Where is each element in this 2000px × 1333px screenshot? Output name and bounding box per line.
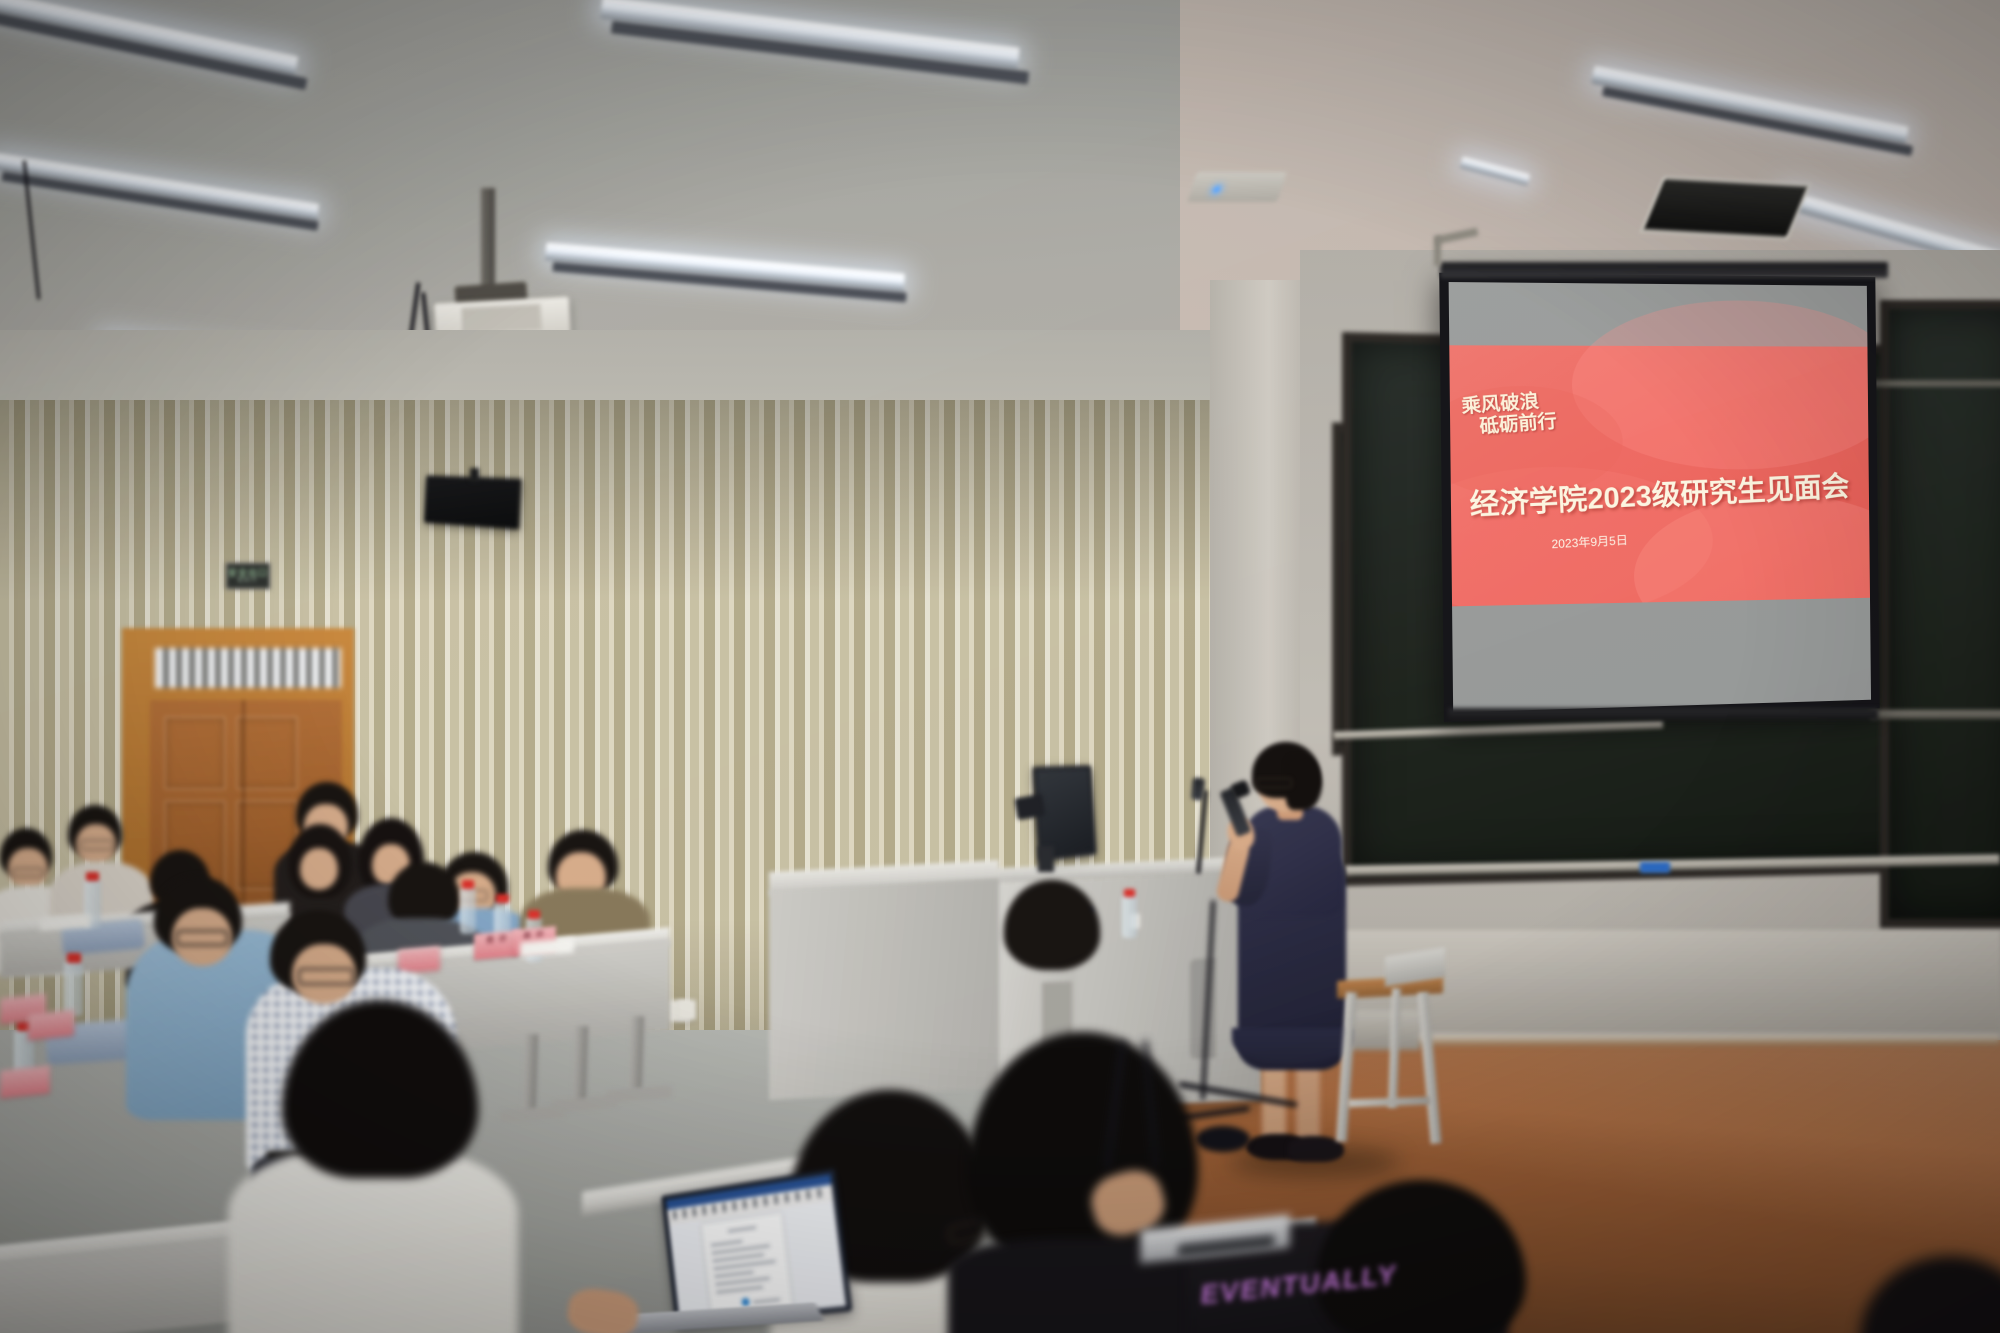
doc-heading-line xyxy=(728,1226,756,1232)
doc-text-line xyxy=(716,1286,763,1293)
projection-screen-surface: 乘风破浪 砥砺前行 经济学院2023级研究生见面会 2023年9月5日 xyxy=(1449,282,1871,712)
blackboard-lower-trim xyxy=(1870,710,2000,719)
desk-leg xyxy=(573,1026,589,1104)
presenter-glasses xyxy=(1256,778,1292,788)
ceiling-air-vent xyxy=(1640,176,1811,240)
name-placard xyxy=(0,1065,50,1098)
bottle-cap xyxy=(462,880,474,889)
doc-text-line xyxy=(715,1277,769,1285)
laptop-screen xyxy=(666,1174,846,1323)
monitor-stand xyxy=(1038,846,1054,872)
lectern-side-panel xyxy=(769,878,999,1100)
laptop[interactable] xyxy=(661,1168,852,1328)
audience-glasses xyxy=(176,930,228,946)
exit-sign-label-cn: 安全出口 xyxy=(228,569,268,578)
bottle-cap xyxy=(86,872,99,881)
blackboard-right xyxy=(1880,300,2000,928)
exit-sign-label-en: EXIT xyxy=(238,578,257,584)
projector-mount-pole xyxy=(481,188,495,294)
wall-speaker-bracket xyxy=(470,468,479,482)
water-bottle xyxy=(1122,896,1137,938)
screen-bottom-bar xyxy=(1448,708,1878,720)
doc-inline-icon xyxy=(741,1298,749,1307)
slide-bottom-band xyxy=(1452,598,1871,713)
bottle-cap xyxy=(67,953,81,963)
desk-leg xyxy=(523,1034,539,1114)
doc-text-line xyxy=(714,1260,776,1269)
audience-glasses xyxy=(80,840,114,850)
floor-cable-coil xyxy=(1196,1126,1250,1152)
wall-speaker xyxy=(424,475,522,529)
audience-face xyxy=(300,848,338,890)
gooseneck-microphone-capsule xyxy=(1191,778,1205,801)
water-bottle xyxy=(64,962,83,1016)
exit-sign: 安全出口 EXIT xyxy=(225,562,271,590)
bottle-cap xyxy=(528,910,540,919)
desk-leg xyxy=(629,1016,645,1090)
blackboard-upper-trim xyxy=(1870,380,2000,387)
screen-roller-casing xyxy=(1440,262,1888,278)
chalk-eraser xyxy=(1640,862,1670,873)
classroom-photo: 乘风破浪 砥砺前行 经济学院2023级研究生见面会 2023年9月5日 安全出口… xyxy=(0,0,2000,1333)
doc-text-line xyxy=(712,1245,770,1254)
projection-screen: 乘风破浪 砥砺前行 经济学院2023级研究生见面会 2023年9月5日 xyxy=(1439,273,1879,722)
audience-glasses xyxy=(298,968,354,985)
ceiling-wifi-access-point xyxy=(1187,172,1287,202)
slide-calligraphy: 乘风破浪 砥砺前行 xyxy=(1461,391,1558,439)
doc-text-line xyxy=(711,1240,742,1246)
wall-power-outlet xyxy=(678,1000,696,1020)
word-document-page xyxy=(701,1213,793,1318)
screen-wall-bracket xyxy=(1434,236,1441,266)
access-point-led xyxy=(1212,186,1221,193)
door-panel xyxy=(236,716,298,790)
bottle-cap xyxy=(496,894,509,903)
audience-glasses xyxy=(12,868,44,877)
bottle-cap xyxy=(1124,889,1135,897)
water-bottle xyxy=(460,888,476,934)
door-panel xyxy=(164,716,226,790)
door-transom-window xyxy=(155,648,341,688)
door-center-seam xyxy=(242,700,245,928)
doc-text-line xyxy=(713,1254,764,1262)
doc-text-line xyxy=(714,1271,753,1277)
doc-text-line xyxy=(753,1298,780,1302)
name-placard xyxy=(28,1010,74,1041)
